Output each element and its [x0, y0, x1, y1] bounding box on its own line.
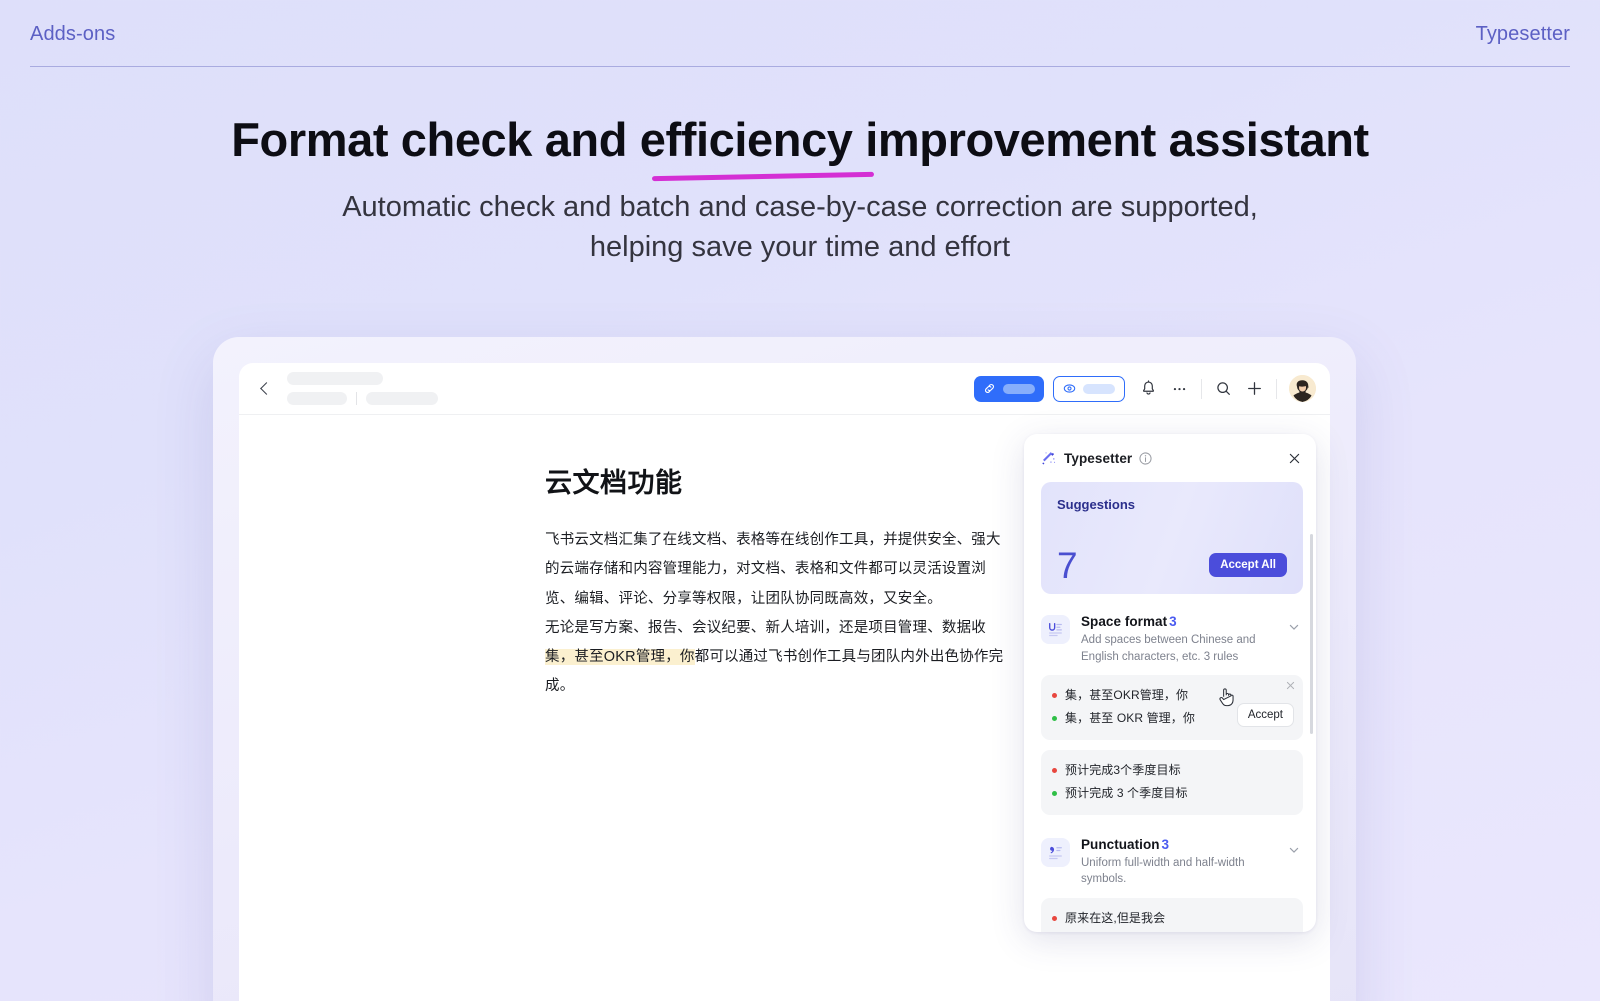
suggestion-corrected-text: 集，甚至 OKR 管理，你 — [1065, 707, 1195, 730]
toolbar-divider — [1276, 379, 1277, 399]
nav-divider — [30, 66, 1570, 67]
rule-title-text: Punctuation — [1081, 837, 1160, 852]
document-paragraph-1: 飞书云文档汇集了在线文档、表格等在线创作工具，并提供安全、强大的云端存储和内容管… — [545, 526, 1015, 614]
toolbar-divider — [1201, 379, 1202, 399]
corrected-dot-icon — [1052, 791, 1057, 796]
bell-icon[interactable] — [1139, 379, 1158, 398]
skeleton-bar — [366, 392, 438, 405]
rule-text-block: Space format3 Add spaces between Chinese… — [1081, 614, 1276, 665]
top-navigation: Adds-ons Typesetter — [0, 0, 1600, 68]
paragraph-text-before: 无论是写方案、报告、会议纪要、新人培训，还是项目管理、数据收 — [545, 620, 986, 636]
chevron-left-icon[interactable] — [255, 379, 275, 399]
suggestion-original-text: 集，甚至OKR管理，你 — [1065, 684, 1188, 707]
suggestion-original-line: 预计完成3个季度目标 — [1052, 759, 1292, 782]
share-button[interactable] — [974, 376, 1044, 402]
suggestion-original-line: 原来在这,但是我会 — [1052, 907, 1292, 930]
panel-scrollbar[interactable] — [1310, 534, 1313, 734]
close-icon[interactable] — [1287, 451, 1302, 466]
highlighted-text: 集，甚至OKR管理，你 — [545, 649, 695, 665]
chevron-down-icon[interactable] — [1287, 620, 1301, 634]
rule-count: 3 — [1169, 614, 1177, 629]
suggestion-item[interactable]: 预计完成3个季度目标 预计完成 3 个季度目标 — [1041, 750, 1303, 815]
suggestion-corrected-text: 预计完成 3 个季度目标 — [1065, 782, 1188, 805]
rule-description: Add spaces between Chinese and English c… — [1081, 632, 1276, 665]
punctuation-glyph — [1047, 844, 1064, 861]
title-underline — [652, 172, 874, 181]
avatar[interactable] — [1289, 375, 1316, 402]
panel-body[interactable]: Suggestions 7 Accept All Space format3 A… — [1024, 482, 1316, 932]
corrected-dot-icon — [1052, 716, 1057, 721]
document-heading: 云文档功能 — [545, 461, 1015, 500]
typesetter-panel: Typesetter Suggestions 7 Accept All — [1024, 434, 1316, 932]
page-subtitle: Automatic check and batch and case-by-ca… — [0, 187, 1600, 267]
rule-title-text: Space format — [1081, 614, 1167, 629]
rule-header[interactable]: Space format3 Add spaces between Chinese… — [1041, 614, 1303, 665]
magic-wand-icon — [1040, 450, 1057, 467]
rule-title: Punctuation3 — [1081, 837, 1276, 852]
skeleton-row — [287, 392, 438, 405]
document-content: 云文档功能 飞书云文档汇集了在线文档、表格等在线创作工具，并提供安全、强大的云端… — [545, 461, 1015, 702]
space-format-glyph — [1047, 621, 1064, 638]
link-icon — [983, 382, 996, 395]
suggestion-item[interactable]: 原来在这,但是我会 — [1041, 898, 1303, 932]
subtitle-line-1: Automatic check and batch and case-by-ca… — [0, 187, 1600, 227]
skeleton-bar — [287, 392, 347, 405]
rule-count: 3 — [1162, 837, 1170, 852]
rule-text-block: Punctuation3 Uniform full-width and half… — [1081, 837, 1276, 888]
space-format-icon — [1041, 615, 1070, 644]
page-title: Format check and efficiency improvement … — [231, 112, 1369, 167]
original-dot-icon — [1052, 768, 1057, 773]
eye-icon — [1063, 382, 1076, 395]
search-icon[interactable] — [1214, 379, 1233, 398]
toolbar-icon-group — [1139, 375, 1316, 402]
suggestion-original-text: 原来在这,但是我会 — [1065, 907, 1165, 930]
suggestions-summary-card: Suggestions 7 Accept All — [1041, 482, 1303, 594]
subtitle-line-2: helping save your time and effort — [0, 227, 1600, 267]
suggestion-corrected-line: 预计完成 3 个季度目标 — [1052, 782, 1292, 805]
suggestions-label: Suggestions — [1057, 497, 1287, 512]
hero-section: Format check and efficiency improvement … — [0, 112, 1600, 267]
title-part-2: improvement assistant — [853, 113, 1369, 166]
rule-title: Space format3 — [1081, 614, 1276, 629]
suggestion-item[interactable]: 集，甚至OKR管理，你 集，甚至 OKR 管理，你 Accept — [1041, 675, 1303, 740]
rule-section-space-format: Space format3 Add spaces between Chinese… — [1041, 614, 1303, 815]
original-dot-icon — [1052, 916, 1057, 921]
panel-title: Typesetter — [1064, 451, 1132, 466]
hand-pointer-cursor — [1217, 686, 1236, 708]
skeleton-divider — [356, 392, 357, 405]
rule-header[interactable]: Punctuation3 Uniform full-width and half… — [1041, 837, 1303, 888]
document-title-skeleton — [287, 372, 438, 405]
button-label-skeleton — [1083, 384, 1115, 394]
button-label-skeleton — [1003, 384, 1035, 394]
accept-button[interactable]: Accept — [1237, 703, 1294, 727]
info-icon[interactable] — [1139, 452, 1152, 465]
dismiss-icon[interactable] — [1285, 680, 1296, 691]
chevron-down-icon[interactable] — [1287, 843, 1301, 857]
nav-link-addons[interactable]: Adds-ons — [30, 23, 115, 46]
original-dot-icon — [1052, 693, 1057, 698]
document-paragraph-2: 无论是写方案、报告、会议纪要、新人培训，还是项目管理、数据收集，甚至OKR管理，… — [545, 614, 1015, 702]
plus-icon[interactable] — [1245, 379, 1264, 398]
punctuation-icon — [1041, 838, 1070, 867]
app-toolbar — [239, 363, 1330, 415]
rule-description: Uniform full-width and half-width symbol… — [1081, 855, 1276, 888]
ellipsis-icon[interactable] — [1170, 379, 1189, 398]
suggestions-count: 7 — [1057, 547, 1078, 584]
title-emphasis: efficiency — [640, 113, 853, 166]
accept-all-button[interactable]: Accept All — [1209, 553, 1287, 577]
nav-link-typesetter[interactable]: Typesetter — [1476, 23, 1570, 46]
avatar-image — [1289, 375, 1316, 402]
panel-header: Typesetter — [1024, 434, 1316, 482]
skeleton-bar — [287, 372, 383, 385]
suggestion-original-text: 预计完成3个季度目标 — [1065, 759, 1181, 782]
title-part-1: Format check and — [231, 113, 640, 166]
preview-button[interactable] — [1053, 376, 1125, 402]
rule-section-punctuation: Punctuation3 Uniform full-width and half… — [1041, 837, 1303, 932]
